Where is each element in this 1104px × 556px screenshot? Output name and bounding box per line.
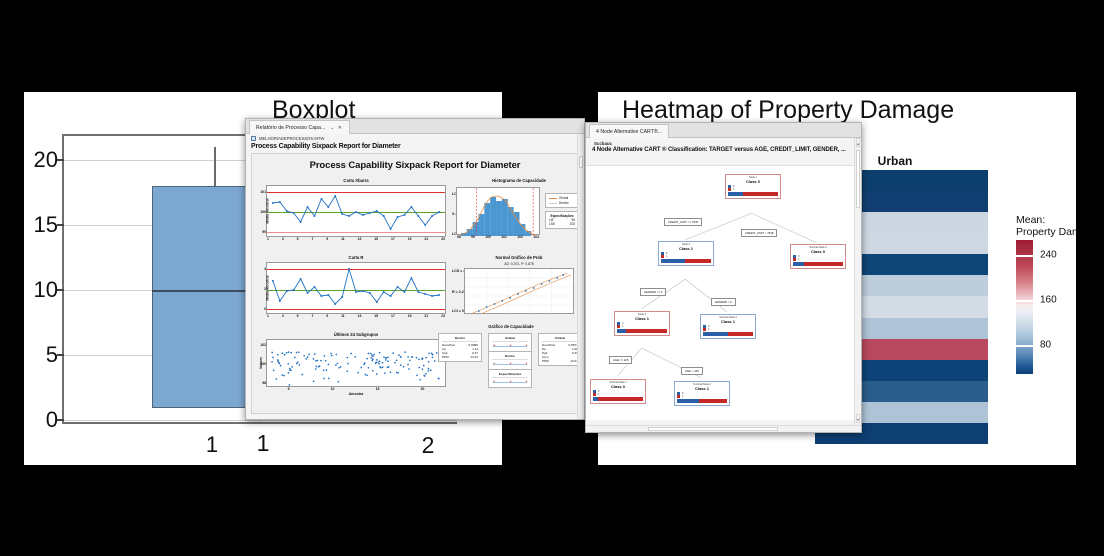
stat-value: 13.43 (470, 355, 478, 359)
xbar-xtick: 13 (358, 237, 362, 241)
subgroups-scatter (267, 340, 445, 388)
panel-last-subgroups: Últimos 24 Subgrupos Valores 102 100 98 … (266, 332, 446, 396)
xbar-xtick: 21 (424, 237, 428, 241)
cart-node-table: 01 (591, 390, 645, 396)
band-dentro-line: +++ (492, 361, 528, 367)
band-spec-line: +++ (492, 379, 528, 385)
histogram-xtick: 98 (457, 235, 461, 239)
cart-section-label: Sccbauc (586, 138, 861, 146)
subgroups-xtick: 5 (288, 387, 290, 391)
tab-cart[interactable]: 4 Node Alternative CART®... (589, 124, 669, 138)
cart-split-label: CREDIT_LIMIT <= 7545 (664, 218, 702, 226)
boxplot-ytickmark (57, 224, 64, 226)
heatmap-colorbar-notch (1016, 345, 1033, 347)
capability-scroll-thumb[interactable] (579, 156, 583, 168)
heatmap-legend-title-line1: Mean: (1016, 214, 1045, 226)
cart-node-table: 01 (675, 392, 729, 398)
panel-xbar-chart: Carta Xbarra Média Amostral 101 100 99 (266, 178, 446, 237)
cart-node-table: 01 (791, 255, 845, 261)
overall-row: PPM12.01 (542, 359, 578, 363)
xbar-title: Carta Xbarra (266, 178, 446, 183)
rchart-xtick: 9 (326, 314, 328, 318)
normalprob-axes (464, 268, 574, 314)
xbar-axes: Média Amostral 101 100 99 (266, 185, 446, 237)
capplot-within-box: Dentro DesvPad0.9966 Cp1.11 Cpk0.37 PPM1… (438, 333, 482, 362)
cart-tabstrip[interactable]: 4 Node Alternative CART®... (586, 123, 861, 138)
capplot-band-spec: Especificações +++ (488, 369, 532, 388)
xbar-xtick: 1 (267, 237, 269, 241)
histogram-title: Histograma de Capacidade (456, 178, 579, 183)
subgroups-ytick: 102 (260, 343, 266, 347)
capability-command-title: Process Capability Sixpack Report for Di… (246, 141, 584, 153)
heatmap-column-label-urban: Urban (878, 154, 913, 168)
cart-node[interactable]: Node 1Class 001 (725, 174, 781, 199)
cart-vertical-scrollbar[interactable]: ▴ ▾ (854, 138, 861, 432)
capability-worksheet-bar: MELHORIADEPROCESSOS.MTW (246, 134, 584, 141)
slide-number-2: 2 (368, 432, 488, 459)
legend-label-dentro: Dentro (559, 201, 569, 205)
rchart-xticks: 1 3 5 7 9 11 13 15 17 19 21 23 (267, 313, 445, 318)
window-cart-classification[interactable]: 4 Node Alternative CART®... Sccbauc 4 No… (585, 122, 862, 433)
window-process-capability[interactable]: Relatório de Processo Capa... ⌄ ✕ MELHOR… (245, 118, 585, 420)
heatmap-legend-title-line2: Property Dam... (1016, 226, 1076, 238)
normalprob-title: Normal Gráfico de Prob (464, 255, 574, 260)
stat-label: PPM (542, 359, 549, 363)
rchart-xtick: 5 (297, 314, 299, 318)
subgroups-title: Últimos 24 Subgrupos (266, 332, 446, 337)
cart-tree-canvas[interactable]: Node 1Class 001Node 2Class 101Terminal N… (586, 165, 854, 420)
histogram-xtick: 99 (471, 235, 475, 239)
cart-split-label: AGE <= 225 (609, 356, 632, 364)
boxplot-ytick-15: 15 (34, 212, 58, 238)
heatmap-legend-tick-160: 160 (1040, 295, 1057, 306)
capplot-band-global: Global +++ (488, 333, 532, 352)
spec-value: 100 (570, 222, 575, 226)
cart-node-bar (677, 399, 727, 403)
histogram-spec-box: Especificações LIE 99 LSE 100 (545, 211, 579, 229)
rchart-ytick: 4 (264, 267, 266, 271)
rchart-series (267, 263, 445, 315)
cart-split-label: AGE > 225 (681, 367, 703, 375)
cart-node-bar (703, 332, 753, 336)
stat-label: PPM (442, 355, 449, 359)
capability-report-canvas[interactable]: Process Capability Sixpack Report for Di… (251, 153, 579, 414)
heatmap-colorbar-notch (1016, 255, 1033, 257)
scroll-down-arrow-icon[interactable]: ▾ (856, 414, 860, 423)
slide-heatmap-title: Heatmap of Property Damage (622, 96, 954, 125)
rchart-xtick: 3 (282, 314, 284, 318)
chevron-down-icon[interactable]: ⌄ (330, 125, 335, 131)
xbar-ytick: 101 (260, 190, 266, 194)
within-row: PPM13.43 (442, 355, 478, 359)
rchart-ytick: 0 (264, 307, 266, 311)
xbar-xtick: 5 (297, 237, 299, 241)
rchart-xtick: 15 (374, 314, 378, 318)
cart-node[interactable]: Terminal Node 1Class 001 (590, 379, 646, 404)
spec-row: LSE 100 (549, 222, 575, 226)
rchart-xtick: 13 (358, 314, 362, 318)
cart-split-label: CREDIT_LIMIT > 7545 (741, 229, 777, 237)
heatmap-colorbar (1016, 240, 1033, 374)
subgroups-xtick: 20 (421, 387, 425, 391)
histogram-bars (457, 188, 539, 236)
xbar-xtick: 19 (408, 237, 412, 241)
boxplot-ytick-20: 20 (34, 147, 58, 173)
cart-node-bar (793, 262, 843, 266)
xbar-ytick: 100 (260, 210, 266, 214)
normalprob-subtitle: AD: 0.201, P: 0.878 (464, 262, 574, 266)
within-box-title: Dentro (442, 336, 478, 342)
tab-controls[interactable]: ⌄ ✕ (330, 121, 343, 135)
rchart-xtick: 7 (311, 314, 313, 318)
xbar-xtick: 3 (282, 237, 284, 241)
cart-command-title: 4 Node Alternative CART ® Classification… (586, 146, 861, 156)
subgroups-ytick: 100 (260, 362, 266, 366)
panel-capability-histogram: Histograma de Capacidade LIE LSE (456, 178, 579, 235)
panel-r-chart: Carta R Média Amostral 4 2 0 (266, 255, 446, 314)
subgroups-axes: Valores 102 100 98 5 10 15 20 (266, 339, 446, 387)
histogram-xticks: 98 99 100 101 102 103 (457, 234, 539, 239)
rchart-ytick: 2 (264, 287, 266, 291)
worksheet-name: MELHORIADEPROCESSOS.MTW (259, 136, 324, 141)
xbar-series (267, 186, 445, 238)
rchart-lcl-label: LCI = 0 (452, 309, 464, 313)
cart-node-table: 01 (659, 252, 713, 258)
cart-node-bar (728, 192, 778, 196)
panel-capability-plot: Gráfico de Capacidade Dentro DesvPad0.99… (438, 324, 579, 393)
cart-node[interactable]: Node 2Class 101 (658, 241, 714, 266)
cart-node-bar (593, 397, 643, 401)
screenshot-root: Boxplot 20 15 10 5 0 1 (0, 0, 1104, 556)
subgroups-ytick: 98 (262, 381, 266, 385)
overall-box-title: Global (542, 336, 578, 342)
subgroups-xtick: 15 (376, 387, 380, 391)
xbar-xtick: 17 (391, 237, 395, 241)
capplot-overall-box: Global DesvPad0.8673 Pp1.08 Ppk0.36 Cpm*… (538, 333, 579, 366)
rchart-xtick: 11 (341, 314, 345, 318)
boxplot-ytick-5: 5 (46, 342, 58, 368)
capplot-title: Gráfico de Capacidade (438, 324, 579, 329)
legend-label-global: Global (559, 196, 568, 200)
legend-swatch-dentro (549, 203, 557, 204)
tab-label: 4 Node Alternative CART®... (596, 125, 662, 139)
cart-node-table: 01 (726, 185, 780, 191)
subgroups-xlabel: Amostra (266, 392, 446, 396)
spec-label: LSE (549, 222, 555, 226)
cart-split-label: GENDER > 0 (711, 298, 736, 306)
xbar-ytick: 99 (262, 230, 266, 234)
boxplot-ytickmark (57, 289, 64, 291)
close-icon[interactable]: ✕ (338, 125, 343, 131)
capability-report-title: Process Capability Sixpack Report for Di… (252, 160, 578, 171)
worksheet-icon (251, 136, 256, 141)
capability-tabstrip[interactable]: Relatório de Processo Capa... ⌄ ✕ (246, 119, 584, 134)
xbar-xtick: 15 (374, 237, 378, 241)
cart-split-label: GENDER <= 0 (640, 288, 666, 296)
rchart-xtick: 21 (424, 314, 428, 318)
legend-swatch-global (549, 198, 557, 199)
xbar-xtick: 7 (311, 237, 313, 241)
rchart-title: Carta R (266, 255, 446, 260)
cart-node-table: 01 (701, 325, 755, 331)
boxplot-ytickmark (57, 354, 64, 356)
cart-node-bar (617, 329, 667, 333)
histogram-axes: 98 99 100 101 102 103 (456, 187, 540, 235)
subgroups-xticks: 5 10 15 20 (267, 386, 445, 391)
histogram-legend: Global Dentro (545, 193, 579, 208)
cart-node[interactable]: Terminal Node 3Class 101 (700, 314, 756, 339)
band-label-spec: Especificações (492, 372, 528, 378)
rchart-xtick: 17 (391, 314, 395, 318)
cart-node-table: 01 (615, 322, 669, 328)
rchart-xtick: 19 (408, 314, 412, 318)
cart-node[interactable]: Node 3Class 101 (614, 311, 670, 336)
scroll-up-arrow-icon[interactable]: ▴ (856, 138, 860, 147)
panel-normal-prob: Normal Gráfico de Prob AD: 0.201, P: 0.8… (464, 255, 574, 314)
rchart-axes: Média Amostral 4 2 0 (266, 262, 446, 314)
capability-six-panels: Carta Xbarra Média Amostral 101 100 99 (252, 174, 578, 413)
cart-node[interactable]: Terminal Node 2Class 101 (674, 381, 730, 406)
rchart-xtick: 23 (441, 314, 445, 318)
heatmap-colorbar-notch (1016, 300, 1033, 302)
normalprob-series (465, 269, 573, 315)
histogram-xtick: 100 (485, 235, 491, 239)
boxplot-ytickmark (57, 159, 64, 161)
xbar-xtick: 11 (341, 237, 345, 241)
band-label-dentro: Dentro (492, 354, 528, 360)
tab-label: Relatório de Processo Capa... (256, 121, 325, 135)
histogram-xtick: 102 (517, 235, 523, 239)
boxplot-ytickmark (57, 419, 64, 421)
capability-vertical-scrollbar[interactable] (577, 134, 584, 419)
xbar-xtick: 9 (326, 237, 328, 241)
boxplot-upper-whisker (214, 147, 216, 186)
cart-node[interactable]: Terminal Node 4Class 001 (790, 244, 846, 269)
boxplot-ytick-10: 10 (34, 277, 58, 303)
rchart-xtick: 1 (267, 314, 269, 318)
band-label-global: Global (492, 336, 528, 342)
histogram-xtick: 101 (501, 235, 507, 239)
histogram-xtick: 103 (533, 235, 539, 239)
xbar-xtick: 23 (441, 237, 445, 241)
heatmap-legend-tick-240: 240 (1040, 250, 1057, 261)
subgroups-xtick: 10 (331, 387, 335, 391)
cart-hscroll-thumb[interactable] (648, 427, 778, 431)
cart-node-bar (661, 259, 711, 263)
cart-scroll-thumb[interactable] (856, 150, 860, 208)
tab-process-capability[interactable]: Relatório de Processo Capa... ⌄ ✕ (249, 120, 350, 134)
cart-horizontal-scrollbar[interactable] (586, 425, 861, 432)
xbar-xticks: 1 3 5 7 9 11 13 15 17 19 21 23 (267, 236, 445, 241)
band-global-line: +++ (492, 343, 528, 349)
capplot-band-dentro: Dentro +++ (488, 351, 532, 370)
heatmap-legend-tick-80: 80 (1040, 340, 1051, 351)
